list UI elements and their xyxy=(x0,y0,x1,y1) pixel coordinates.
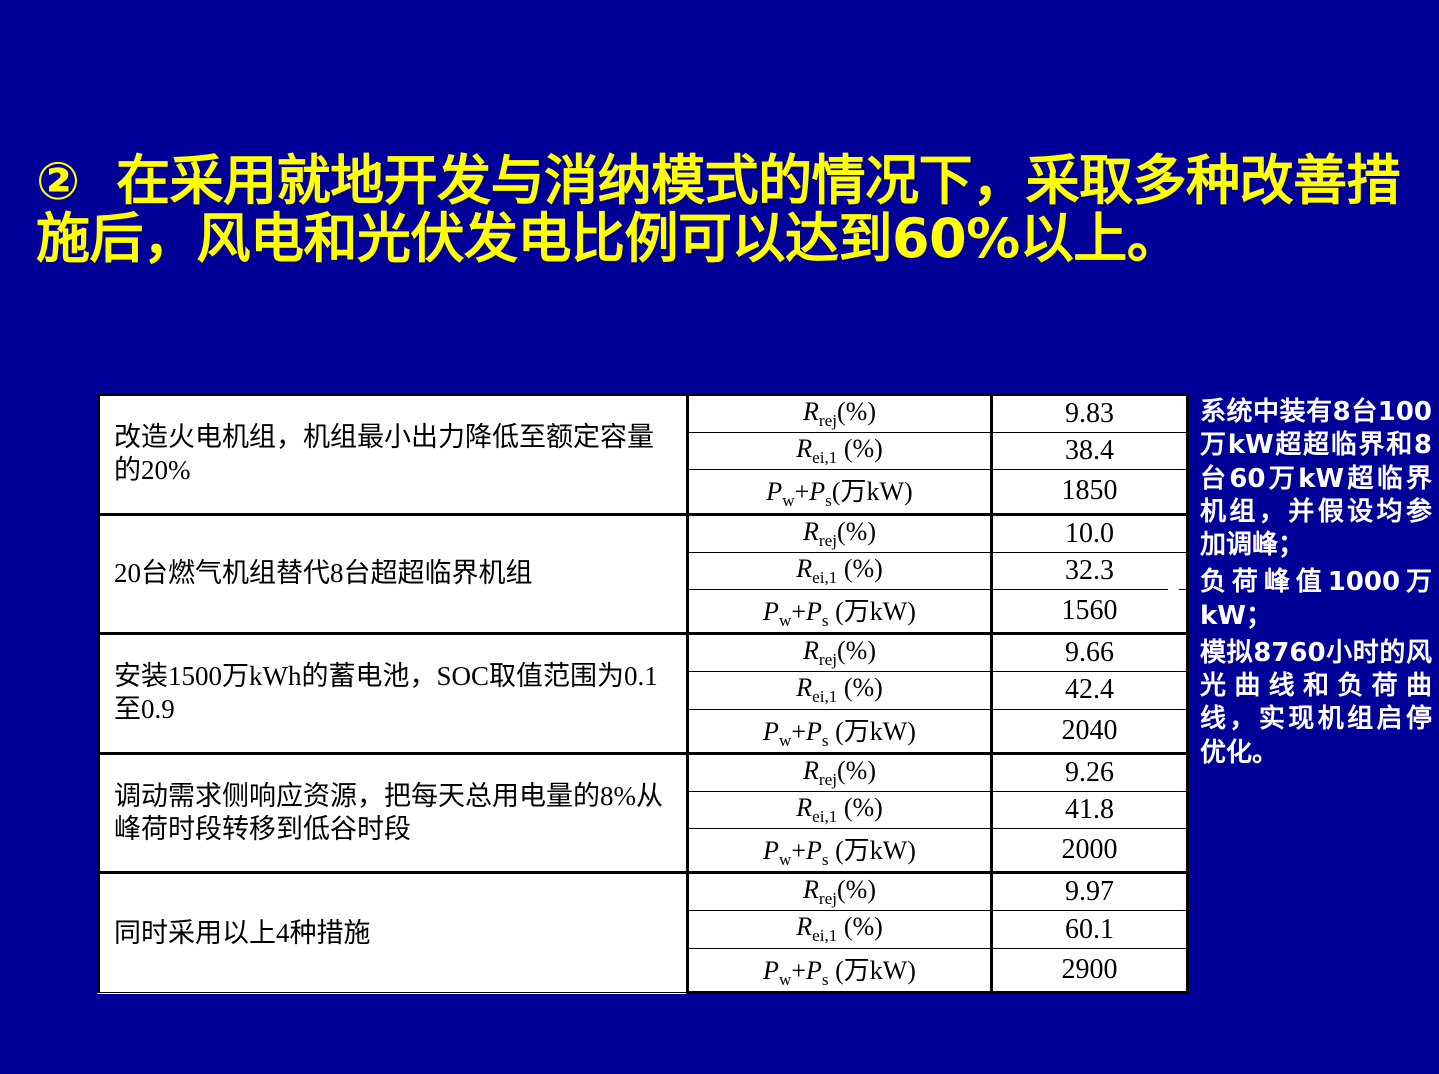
metric-value-cell: 9.97 xyxy=(992,873,1188,911)
metric-label-cell: Rrej(%) xyxy=(688,514,992,552)
metric-label-cell: Rrej(%) xyxy=(688,873,992,911)
metric-label-cell: Pw+Ps (万kW) xyxy=(688,948,992,992)
metric-label-cell: Pw+Ps (万kW) xyxy=(688,829,992,873)
notes-list: 系统中装有8台100万kW超超临界和8台60万kW超临界机组，并假设均参加调峰；… xyxy=(1156,396,1432,774)
list-item-label: 模拟8760小时的风光曲线和负荷曲线，实现机组启停优化。 xyxy=(1200,638,1432,768)
title-marker: ② xyxy=(36,152,80,212)
results-table-body: 改造火电机组，机组最小出力降低至额定容量的20%Rrej(%)9.83Rei,1… xyxy=(99,395,1188,993)
table-row: 改造火电机组，机组最小出力降低至额定容量的20%Rrej(%)9.83 xyxy=(99,395,1188,433)
list-item: 负荷峰值1000万kW； xyxy=(1156,566,1432,633)
metric-label-cell: Rei,1 (%) xyxy=(688,672,992,709)
page-title: ② 在采用就地开发与消纳模式的情况下，采取多种改善措施后，风电和光伏发电比例可以… xyxy=(36,152,1406,269)
table-row: 安装1500万kWh的蓄电池，SOC取值范围为0.1至0.9Rrej(%)9.6… xyxy=(99,634,1188,672)
measure-description-cell: 同时采用以上4种措施 xyxy=(99,873,688,993)
table-row: 20台燃气机组替代8台超超临界机组Rrej(%)10.0 xyxy=(99,514,1188,552)
title-text: 在采用就地开发与消纳模式的情况下，采取多种改善措施后，风电和光伏发电比例可以达到… xyxy=(36,149,1400,270)
metric-value-cell: 2900 xyxy=(992,948,1188,992)
list-item-label: 负荷峰值1000万kW； xyxy=(1200,567,1432,630)
metric-label-cell: Rei,1 (%) xyxy=(688,433,992,470)
metric-label-cell: Rrej(%) xyxy=(688,753,992,791)
table-row: 调动需求侧响应资源，把每天总用电量的8%从峰荷时段转移到低谷时段Rrej(%)9… xyxy=(99,753,1188,791)
metric-value-cell: 41.8 xyxy=(992,791,1188,828)
metric-value-cell: 60.1 xyxy=(992,911,1188,948)
measure-description-cell: 安装1500万kWh的蓄电池，SOC取值范围为0.1至0.9 xyxy=(99,634,688,754)
bullet-dot-icon xyxy=(1166,648,1181,663)
bullet-dot-icon xyxy=(1166,577,1181,592)
metric-label-cell: Pw+Ps(万kW) xyxy=(688,470,992,514)
list-item: 模拟8760小时的风光曲线和负荷曲线，实现机组启停优化。 xyxy=(1156,637,1432,770)
list-item: 系统中装有8台100万kW超超临界和8台60万kW超临界机组，并假设均参加调峰； xyxy=(1156,396,1432,562)
table-row: 同时采用以上4种措施Rrej(%)9.97 xyxy=(99,873,1188,911)
metric-label-cell: Pw+Ps (万kW) xyxy=(688,709,992,753)
metric-label-cell: Rei,1 (%) xyxy=(688,791,992,828)
results-table: 改造火电机组，机组最小出力降低至额定容量的20%Rrej(%)9.83Rei,1… xyxy=(97,393,1189,994)
measure-description-cell: 调动需求侧响应资源，把每天总用电量的8%从峰荷时段转移到低谷时段 xyxy=(99,753,688,873)
metric-value-cell: 2000 xyxy=(992,829,1188,873)
metric-label-cell: Rei,1 (%) xyxy=(688,552,992,589)
metric-label-cell: Rrej(%) xyxy=(688,634,992,672)
metric-label-cell: Pw+Ps (万kW) xyxy=(688,589,992,633)
list-item-label: 系统中装有8台100万kW超超临界和8台60万kW超临界机组，并假设均参加调峰； xyxy=(1200,397,1432,560)
metric-label-cell: Rei,1 (%) xyxy=(688,911,992,948)
bullet-dot-icon xyxy=(1166,407,1181,422)
measure-description-cell: 20台燃气机组替代8台超超临界机组 xyxy=(99,514,688,634)
metric-label-cell: Rrej(%) xyxy=(688,395,992,433)
measure-description-cell: 改造火电机组，机组最小出力降低至额定容量的20% xyxy=(99,395,688,515)
